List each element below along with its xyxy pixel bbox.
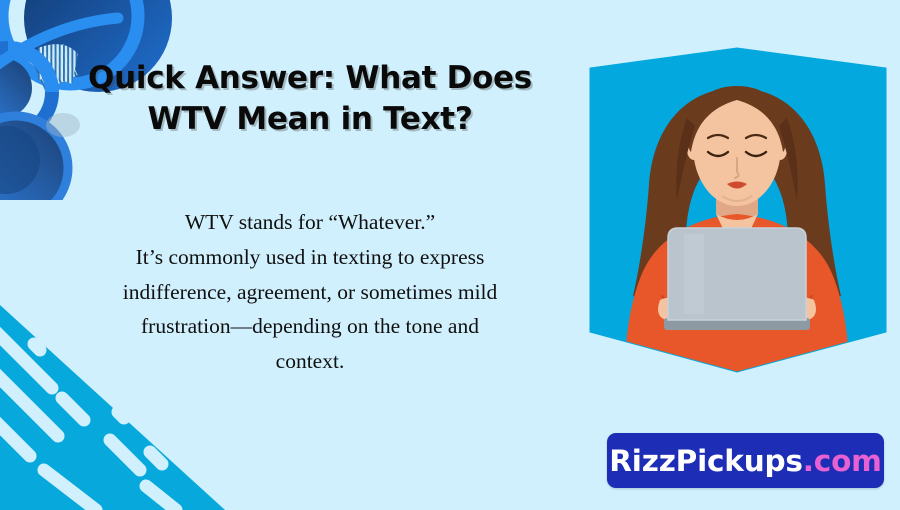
shield-shape	[590, 48, 886, 372]
body-line-5: context.	[276, 349, 345, 373]
page-title: Quick Answer: What Does WTV Mean in Text…	[40, 58, 580, 140]
headline-line-2: WTV Mean in Text?	[147, 101, 472, 137]
brand-logo-badge[interactable]: RizzPickups.com	[607, 433, 884, 488]
body-line-4: frustration—depending on the tone and	[141, 314, 479, 338]
body-paragraph: WTV stands for “Whatever.” It’s commonly…	[40, 205, 580, 379]
body-line-3: indifference, agreement, or sometimes mi…	[123, 280, 498, 304]
brand-name: RizzPickups	[609, 444, 802, 478]
brand-tld: .com	[803, 444, 882, 478]
headline-line-1: Quick Answer: What Does	[88, 60, 532, 96]
promo-graphic: Quick Answer: What Does WTV Mean in Text…	[0, 0, 900, 510]
body-line-2: It’s commonly used in texting to express	[136, 245, 485, 269]
body-line-1: WTV stands for “Whatever.”	[185, 210, 435, 234]
brand-logo-text: RizzPickups.com	[609, 444, 881, 478]
text-column: Quick Answer: What Does WTV Mean in Text…	[40, 58, 580, 140]
